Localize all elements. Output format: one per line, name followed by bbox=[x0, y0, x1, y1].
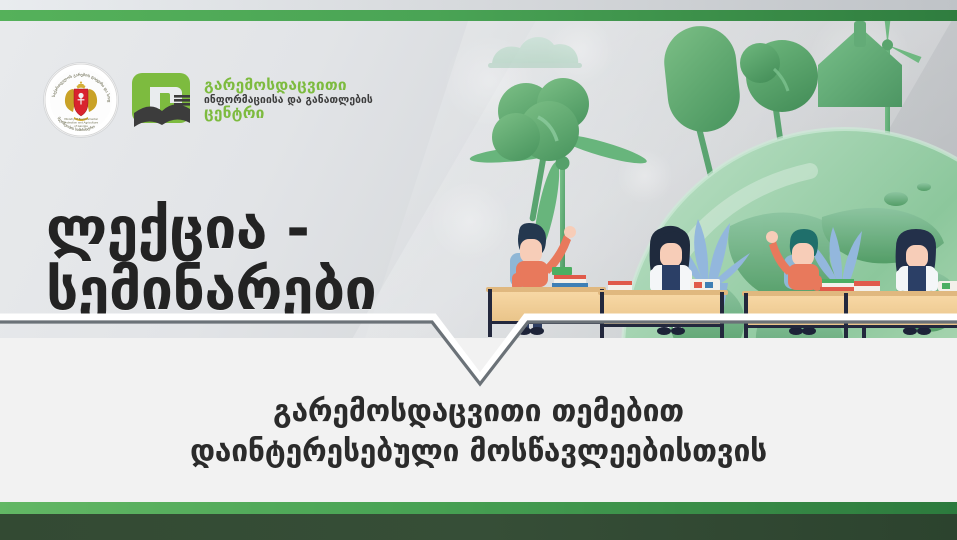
brand-wordmark: გარემოსდაცვითი ინფორმაციისა და განათლები… bbox=[204, 78, 373, 122]
title-line-2: სემინარები bbox=[46, 260, 376, 320]
bottom-dark-bar bbox=[0, 514, 957, 540]
subtitle: გარემოსდაცვითი თემებით დაინტერესებული მო… bbox=[0, 392, 957, 472]
bottom-green-bar bbox=[0, 502, 957, 514]
brand-lockup: საქართველოს გარემოს დაცვისა და სოფლის მე… bbox=[44, 63, 373, 137]
subtitle-line-2: დაინტერესებული მოსწავლეებისთვის bbox=[0, 432, 957, 472]
poster-canvas: საქართველოს გარემოს დაცვისა და სოფლის მე… bbox=[0, 0, 957, 540]
hero-section: საქართველოს გარემოს დაცვისა და სოფლის მე… bbox=[0, 21, 957, 338]
svg-text:Ministry of Environmental: Ministry of Environmental bbox=[64, 117, 98, 121]
brand-line-3: ცენტრი bbox=[204, 106, 373, 122]
title-line-1: ლექცია - bbox=[46, 199, 376, 259]
svg-text:of Georgia: of Georgia bbox=[74, 124, 88, 128]
brand-line-1: გარემოსდაცვითი bbox=[204, 78, 373, 94]
georgia-ministry-coat-of-arms-icon: საქართველოს გარემოს დაცვისა და სოფლის მე… bbox=[44, 63, 118, 137]
top-green-bar bbox=[0, 10, 957, 21]
books-stack bbox=[552, 267, 588, 287]
classroom-illustration bbox=[430, 21, 957, 338]
subtitle-line-1: გარემოსდაცვითი თემებით bbox=[0, 392, 957, 432]
books-stack bbox=[820, 279, 856, 291]
desk-furniture bbox=[486, 287, 606, 337]
top-light-strip bbox=[0, 0, 957, 10]
eiec-green-book-logo-icon bbox=[130, 69, 192, 131]
page-title: ლექცია - სემინარები bbox=[46, 199, 376, 320]
svg-text:Protection and Agriculture: Protection and Agriculture bbox=[64, 120, 98, 124]
